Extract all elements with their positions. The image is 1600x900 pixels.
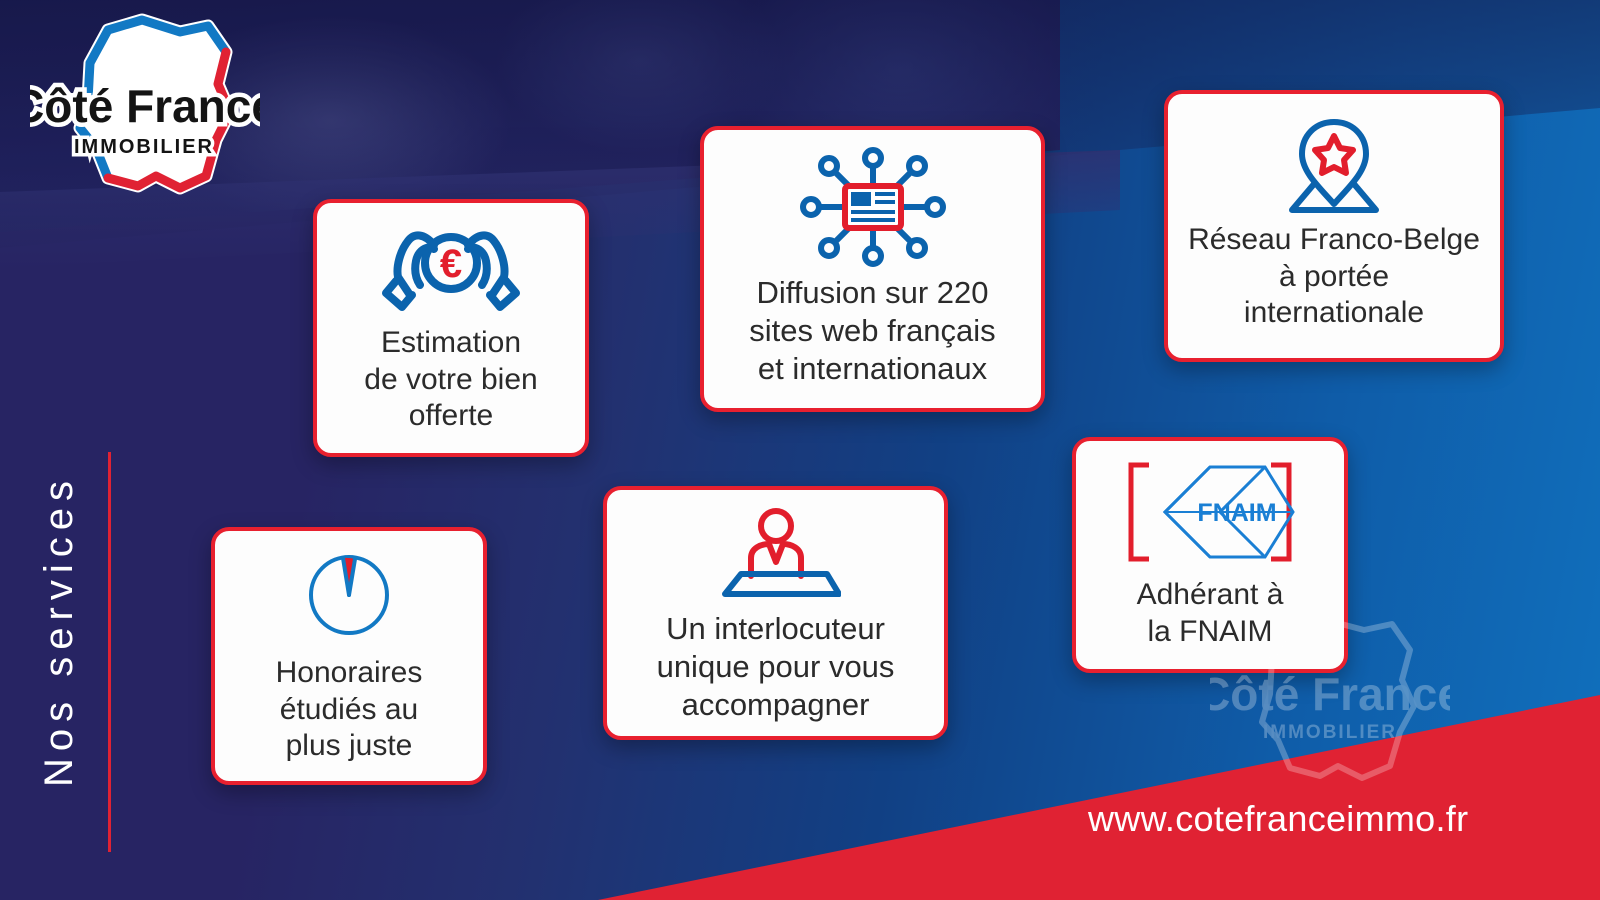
france-shape-logo-icon: Côté France Côté France IMMOBILIER IMMOB…: [30, 8, 260, 208]
service-card-interlocuteur[interactable]: Un interlocuteur unique pour vous accomp…: [603, 486, 948, 740]
euro-symbol: €: [440, 242, 462, 286]
service-card-interlocuteur-text: Un interlocuteur unique pour vous accomp…: [657, 610, 895, 723]
fnaim-logo-icon: FNAIM: [1115, 457, 1305, 567]
watermark-subtitle: IMMOBILIER: [1263, 722, 1397, 743]
hands-holding-euro-icon: €: [376, 219, 526, 315]
infographic-canvas: Côté France Côté France IMMOBILIER IMMOB…: [0, 0, 1600, 900]
service-card-estimation[interactable]: € Estimation de votre bien offerte: [313, 199, 589, 457]
pie-chart-icon: [303, 547, 395, 639]
france-shape-watermark-icon: Côté France IMMOBILIER: [1210, 610, 1450, 790]
bracket-left-icon: [1131, 465, 1149, 559]
section-title-divider: [108, 452, 111, 852]
service-card-diffusion-text: Diffusion sur 220 sites web français et …: [749, 274, 995, 387]
website-url[interactable]: www.cotefranceimmo.fr: [1088, 798, 1468, 840]
brand-logo: Côté France Côté France IMMOBILIER IMMOB…: [30, 8, 260, 208]
service-card-honoraires[interactable]: Honoraires étudiés au plus juste: [211, 527, 487, 785]
person-at-desk-icon: [711, 506, 841, 598]
service-card-estimation-text: Estimation de votre bien offerte: [364, 325, 537, 435]
fnaim-label: FNAIM: [1197, 499, 1276, 527]
brand-watermark: Côté France IMMOBILIER: [1210, 610, 1450, 790]
watermark-name: Côté France: [1210, 668, 1450, 720]
service-card-reseau-text: Réseau Franco-Belge à portée internation…: [1188, 222, 1480, 332]
service-card-diffusion[interactable]: Diffusion sur 220 sites web français et …: [700, 126, 1045, 412]
map-pin-star-icon: [1274, 110, 1394, 216]
logo-name: Côté France: [30, 80, 260, 132]
service-card-honoraires-text: Honoraires étudiés au plus juste: [276, 655, 423, 765]
network-hub-article-icon: [793, 146, 953, 268]
logo-subtitle: IMMOBILIER: [74, 136, 214, 158]
service-card-reseau[interactable]: Réseau Franco-Belge à portée internation…: [1164, 90, 1504, 362]
section-title-text: Nos services: [37, 474, 82, 787]
section-title-vertical: Nos services: [14, 430, 104, 830]
